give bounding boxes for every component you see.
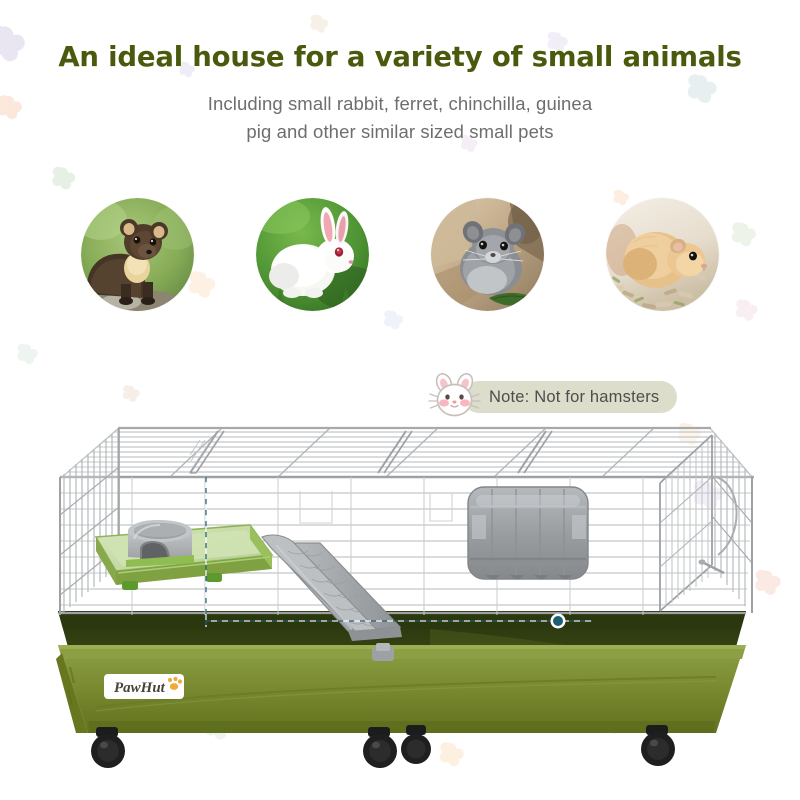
product-marketing-page: An ideal house for a variety of small an… — [0, 0, 800, 800]
header: An ideal house for a variety of small an… — [0, 0, 800, 146]
brand-name: PawHut — [114, 680, 166, 696]
note-text: Note: Not for hamsters — [489, 388, 659, 407]
caster-wheel — [91, 727, 125, 768]
rabbit-photo — [256, 198, 369, 311]
subtitle-line-1: Including small rabbit, ferret, chinchil… — [0, 90, 800, 118]
animal-circle-rabbit — [256, 198, 369, 311]
small-animal-cage-illustration: PawHut — [0, 415, 800, 800]
page-title: An ideal house for a variety of small an… — [0, 41, 800, 74]
background-flower — [384, 310, 403, 329]
hamster-face-icon — [427, 369, 483, 421]
chinchilla-photo — [431, 198, 544, 311]
caster-wheel — [363, 727, 397, 768]
barrel-hideout — [468, 487, 588, 580]
background-flower — [17, 344, 37, 364]
interior-door-outline — [300, 491, 452, 523]
background-flower — [123, 385, 140, 402]
product-image: PawHut — [0, 415, 800, 800]
note-badge: Note: Not for hamsters — [463, 381, 677, 413]
guinea-pig-photo — [606, 198, 719, 311]
feeding-bowl-hideout — [126, 520, 194, 567]
brand-logo: PawHut — [104, 674, 184, 699]
background-flower — [52, 167, 75, 190]
page-subtitle: Including small rabbit, ferret, chinchil… — [0, 90, 800, 146]
animal-circle-chinchilla — [431, 198, 544, 311]
ferret-photo — [81, 198, 194, 311]
animal-circle-guinea-pig — [606, 198, 719, 311]
animal-circle-ferret — [81, 198, 194, 311]
animal-gallery — [0, 198, 800, 313]
elevated-platform — [96, 520, 272, 590]
subtitle-line-2: pig and other similar sized small pets — [0, 118, 800, 146]
